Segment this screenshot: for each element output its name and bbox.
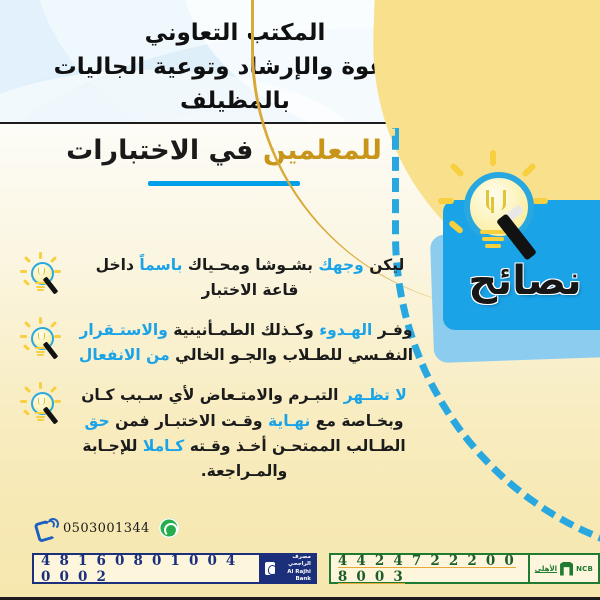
list-item: لا تظـهر التبـرم والامتـعاض لأي سـبب كـا… — [20, 382, 420, 483]
tips-list: ليكن وجهك بشـوشا ومحـياك باسماً داخل قاع… — [20, 252, 420, 498]
alrajhi-mark-icon — [265, 562, 275, 575]
telephone-icon[interactable] — [34, 518, 54, 538]
bank-accounts: NCB الأهلي 4 4 2 4 7 2 2 2 0 0 8 0 0 3 م… — [32, 553, 600, 584]
ncb-logo-icon: NCB الأهلي — [528, 555, 598, 582]
title-divider — [148, 181, 300, 186]
alrajhi-name-ar: مصرف الراجحي — [288, 554, 311, 567]
alrajhi-logo-icon: مصرف الراجحي Al Rajhi Bank — [259, 555, 315, 582]
alrajhi-name: مصرف الراجحي Al Rajhi Bank — [278, 554, 311, 584]
lightbulb-magnifier-icon — [438, 150, 548, 270]
lightbulb-bullet-icon — [20, 382, 62, 424]
bank-account-ncb: NCB الأهلي 4 4 2 4 7 2 2 2 0 0 8 0 0 3 — [329, 553, 600, 584]
ncb-name-ar: الأهلي — [535, 565, 557, 573]
page-title-dark: في الاختبارات — [66, 135, 253, 166]
tip-text: ليكن وجهك بشـوشا ومحـياك باسماً داخل قاع… — [62, 252, 420, 303]
list-item: ليكن وجهك بشـوشا ومحـياك باسماً داخل قاع… — [20, 252, 420, 303]
bank-account-alrajhi: مصرف الراجحي Al Rajhi Bank 4 8 1 6 0 8 0… — [32, 553, 317, 584]
whatsapp-icon[interactable] — [159, 518, 179, 538]
list-item: وفـر الهـدوء وكـذلك الطمـأنينية والاستـق… — [20, 317, 420, 368]
alrajhi-name-en: Al Rajhi Bank — [287, 569, 311, 582]
contact-row: 0503001344 — [34, 518, 179, 538]
lightbulb-bullet-icon — [20, 252, 62, 294]
phone-number: 0503001344 — [63, 521, 150, 536]
ncb-name-en: NCB — [576, 565, 593, 573]
tip-text: وفـر الهـدوء وكـذلك الطمـأنينية والاستـق… — [62, 317, 420, 368]
tip-text: لا تظـهر التبـرم والامتـعاض لأي سـبب كـا… — [62, 382, 420, 483]
lightbulb-bullet-icon — [20, 317, 62, 359]
ncb-account-number: 4 4 2 4 7 2 2 2 0 0 8 0 0 3 — [331, 555, 528, 582]
ncb-gate-icon — [560, 562, 573, 576]
alrajhi-account-number: 4 8 1 6 0 8 0 1 0 0 4 0 0 0 2 — [34, 555, 259, 582]
tips-badge-label: نصائح — [455, 258, 595, 304]
infographic-poster: المكتب التعاوني للدعوة والإرشاد وتوعية ا… — [0, 0, 600, 600]
